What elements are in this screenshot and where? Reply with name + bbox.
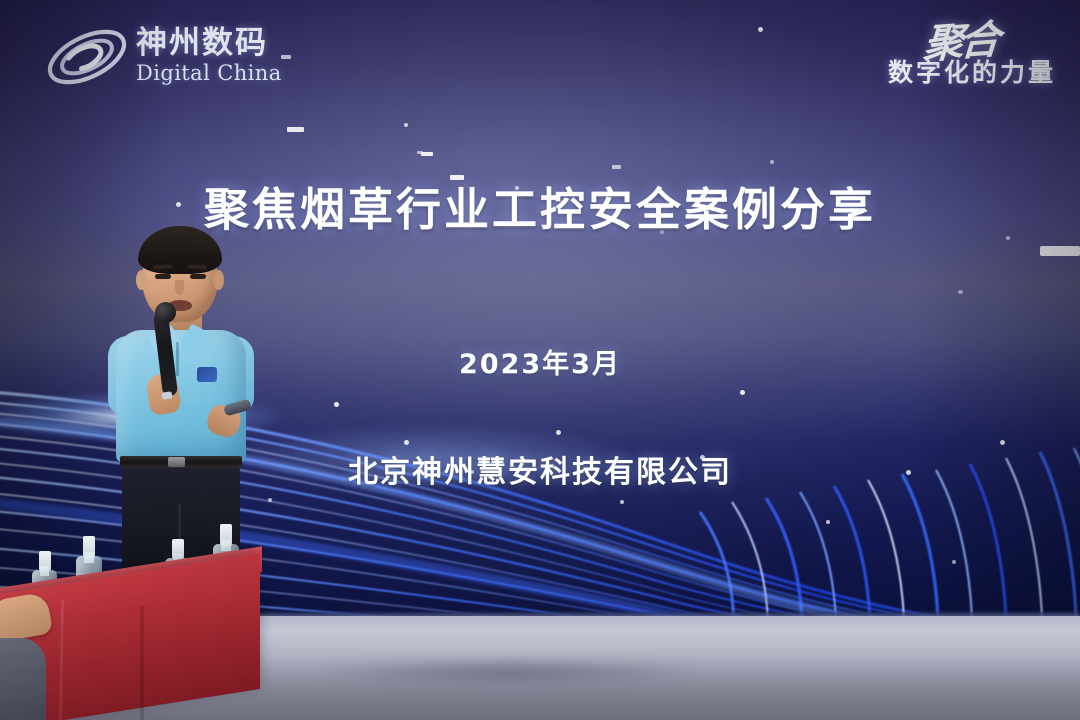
presenter-ear-right	[213, 270, 224, 290]
belt-buckle	[168, 457, 185, 467]
sparkle-dash	[421, 152, 433, 156]
presenter-hair	[138, 226, 222, 274]
sparkle-dot	[268, 498, 272, 502]
sparkle-dash	[450, 175, 464, 180]
shirt-chest-logo-icon	[197, 367, 217, 382]
sparkle-dot	[404, 123, 408, 127]
event-slogan: 聚合 数字化的力量	[796, 18, 1056, 88]
sparkle-dot	[958, 290, 963, 294]
swirl-logo-icon	[44, 28, 130, 86]
presenter-eye-right	[190, 274, 206, 279]
conference-stage-photo: 神州数码 Digital China 聚合 数字化的力量 聚焦烟草行业工控安全案…	[0, 0, 1080, 720]
bottle-neck	[84, 552, 93, 563]
sparkle-dot	[404, 440, 409, 445]
bottle-neck	[40, 566, 49, 576]
sparkle-dash	[612, 165, 621, 169]
brand-name-cn: 神州数码	[136, 26, 316, 60]
shirt-placket	[176, 342, 179, 376]
brand-name-en: Digital China	[136, 61, 316, 85]
presenter-eye-left	[155, 274, 171, 279]
sparkle-dot	[826, 520, 830, 524]
sparkle-dot	[758, 27, 763, 32]
sparkle-dot	[770, 160, 774, 164]
microphone-tip	[162, 391, 173, 399]
digital-china-logo: 神州数码 Digital China	[44, 20, 319, 92]
presenter-polo-shirt	[116, 330, 246, 462]
sparkle-dot	[620, 500, 624, 504]
sparkle-dash	[1040, 246, 1080, 256]
sparkle-dot	[334, 402, 339, 407]
attendee-shoulder	[0, 638, 46, 720]
bottle-neck	[221, 540, 230, 551]
presenter-nose	[175, 280, 184, 295]
presenter-ear-left	[136, 270, 147, 290]
drape-fold	[140, 606, 144, 720]
sparkle-dot	[556, 430, 561, 435]
sparkle-dot	[740, 390, 745, 395]
sparkle-dash	[287, 127, 304, 132]
sparkle-dot	[952, 560, 956, 564]
floor-shadow	[230, 652, 790, 692]
brand-text: 神州数码 Digital China	[136, 26, 316, 85]
sparkle-dot	[1000, 440, 1005, 445]
